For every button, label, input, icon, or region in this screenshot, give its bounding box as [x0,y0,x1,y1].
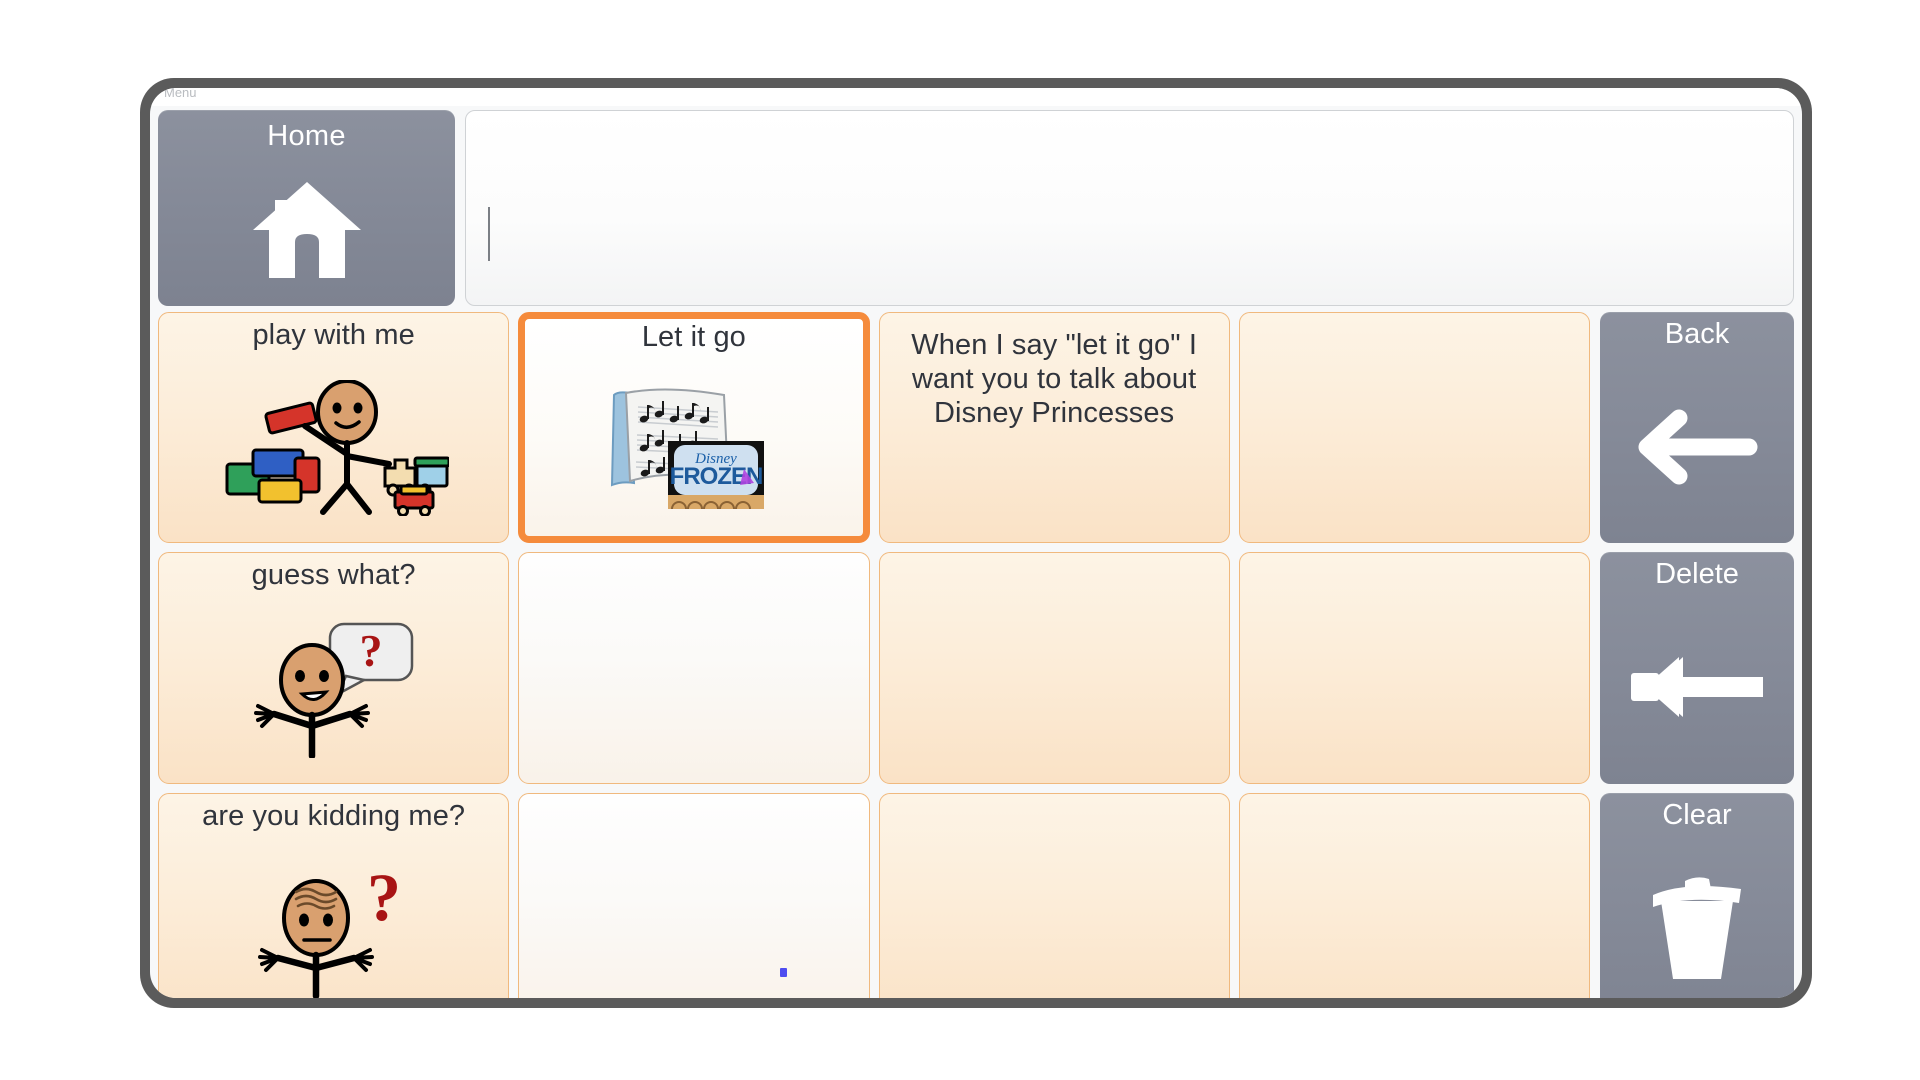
clear-button-label: Clear [1662,799,1731,832]
cell-label: Let it go [525,319,862,355]
grid-cell-empty[interactable] [518,793,869,998]
backspace-icon [1600,591,1794,783]
confused-person-with-question-mark-icon: ? [159,834,508,998]
cell-label: are you kidding me? [159,794,508,834]
menu-label[interactable]: Menu [164,88,197,102]
cell-label [1240,313,1589,319]
cell-label [1240,553,1589,559]
cell-label [519,794,868,800]
action-column: Back Delete [1600,312,1794,998]
top-strip: Home [158,110,1794,306]
pointer-artifact [780,968,787,977]
grid-cell-let-it-go-explanation[interactable]: When I say "let it go" I want you to tal… [879,312,1230,543]
cell-label [1240,794,1589,800]
delete-button[interactable]: Delete [1600,552,1794,783]
home-button[interactable]: Home [158,110,455,306]
tablet-bezel: Menu Home [140,78,1812,1008]
text-caret [488,207,490,261]
grid-cell-empty[interactable] [1239,552,1590,783]
grid-cell-guess-what[interactable]: guess what? ? [158,552,509,783]
cell-label: guess what? [159,553,508,593]
grid-cell-empty[interactable] [1239,793,1590,998]
cell-label [880,794,1229,800]
grid-cell-empty[interactable] [879,793,1230,998]
clear-button[interactable]: Clear [1600,793,1794,998]
grid-cell-empty[interactable] [879,552,1230,783]
svg-text:?: ? [367,859,401,935]
communication-grid: play with me [158,312,1590,998]
grid-area: play with me [158,312,1794,998]
message-bar[interactable] [465,110,1794,306]
back-button-label: Back [1665,318,1729,351]
trash-icon [1600,832,1794,998]
cell-label [880,553,1229,559]
svg-text:?: ? [359,625,382,676]
cell-label: play with me [159,313,508,353]
home-icon [158,153,455,306]
grid-cell-empty[interactable] [1239,312,1590,543]
arrow-left-icon [1600,351,1794,543]
back-button[interactable]: Back [1600,312,1794,543]
grid-cell-let-it-go[interactable]: Let it go [518,312,869,543]
grid-cell-play-with-me[interactable]: play with me [158,312,509,543]
grid-cell-empty[interactable] [518,552,869,783]
cell-label [519,553,868,559]
delete-button-label: Delete [1655,558,1739,591]
sheet-music-with-frozen-dvd-icon: Disney FROZEN [525,355,862,536]
cell-label: When I say "let it go" I want you to tal… [880,313,1229,431]
grid-cell-are-you-kidding-me[interactable]: are you kidding me? ? [158,793,509,998]
home-button-label: Home [267,120,346,153]
person-with-question-speech-bubble-icon: ? [159,593,508,782]
tablet-screen: Menu Home [150,88,1802,998]
person-playing-with-blocks-and-train-icon [159,353,508,542]
app-body: Home [150,104,1802,998]
